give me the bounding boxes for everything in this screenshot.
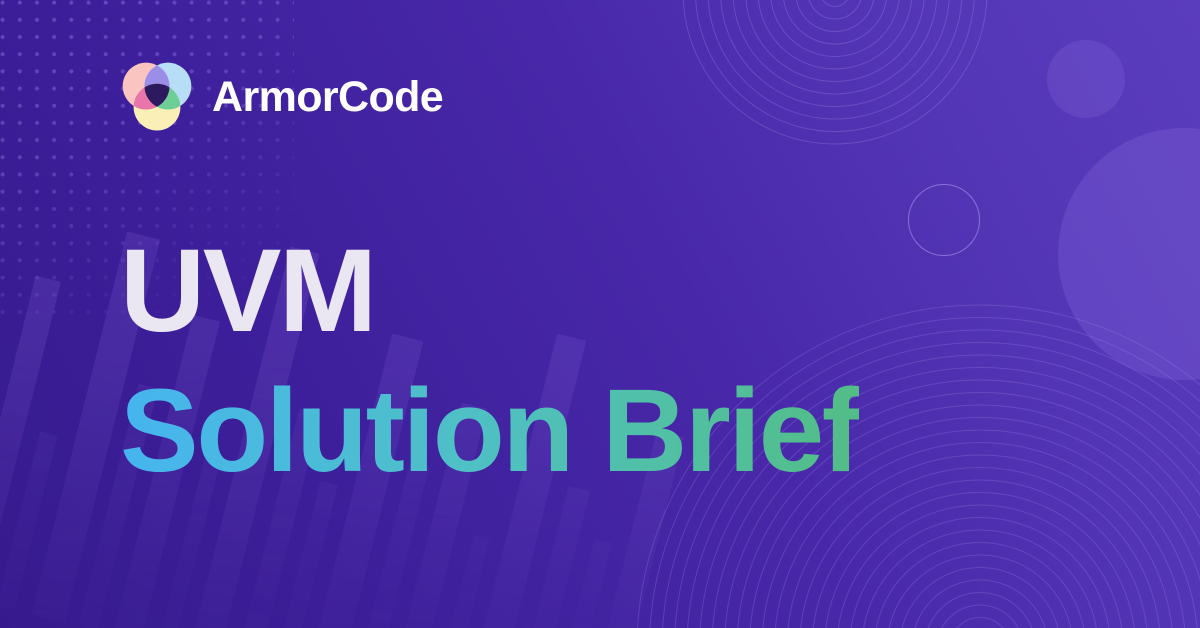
- decorative-ring: [812, 480, 1149, 628]
- decorative-bar: [272, 481, 338, 628]
- brand-wordmark: ArmorCode: [212, 76, 443, 119]
- brand-logo-lockup[interactable]: ArmorCode: [118, 58, 443, 136]
- decorative-ring: [837, 505, 1124, 628]
- decorative-ring: [683, 0, 988, 145]
- decorative-bar: [0, 276, 61, 602]
- headline-line-2: Solution Brief: [120, 372, 859, 490]
- solution-brief-banner: ArmorCode UVM Solution Brief: [0, 0, 1200, 628]
- decorative-ring: [912, 580, 1049, 628]
- headline-block: UVM Solution Brief: [120, 232, 1120, 490]
- decorative-ring: [887, 555, 1074, 628]
- decorative-ring: [862, 530, 1099, 628]
- decorative-ring: [695, 0, 975, 132]
- decorative-bar: [544, 539, 612, 628]
- decorative-ring: [849, 517, 1111, 628]
- decorative-bar: [507, 486, 590, 628]
- decorative-ring: [745, 0, 925, 82]
- decorative-ring: [795, 0, 875, 32]
- headline-line-1: UVM: [120, 232, 1120, 350]
- decorative-bar: [429, 534, 489, 628]
- decorative-ring: [708, 0, 963, 120]
- decorative-bar: [0, 431, 58, 610]
- decorative-ring: [824, 492, 1136, 628]
- decorative-ring: [820, 0, 850, 7]
- decorative-ring: [924, 592, 1036, 628]
- decorative-ring: [758, 0, 913, 70]
- decorative-ring: [899, 567, 1061, 628]
- venn-three-circles-icon: [118, 58, 196, 136]
- decorative-ring: [937, 605, 1024, 628]
- decorative-circle-small: [1047, 40, 1125, 118]
- decorative-ring: [733, 0, 938, 95]
- decorative-ring: [770, 0, 900, 57]
- decorative-ring: [720, 0, 950, 107]
- decorative-ring: [783, 0, 888, 45]
- decorative-ring: [808, 0, 863, 20]
- decorative-ring: [949, 617, 1011, 628]
- decorative-ring: [874, 542, 1086, 628]
